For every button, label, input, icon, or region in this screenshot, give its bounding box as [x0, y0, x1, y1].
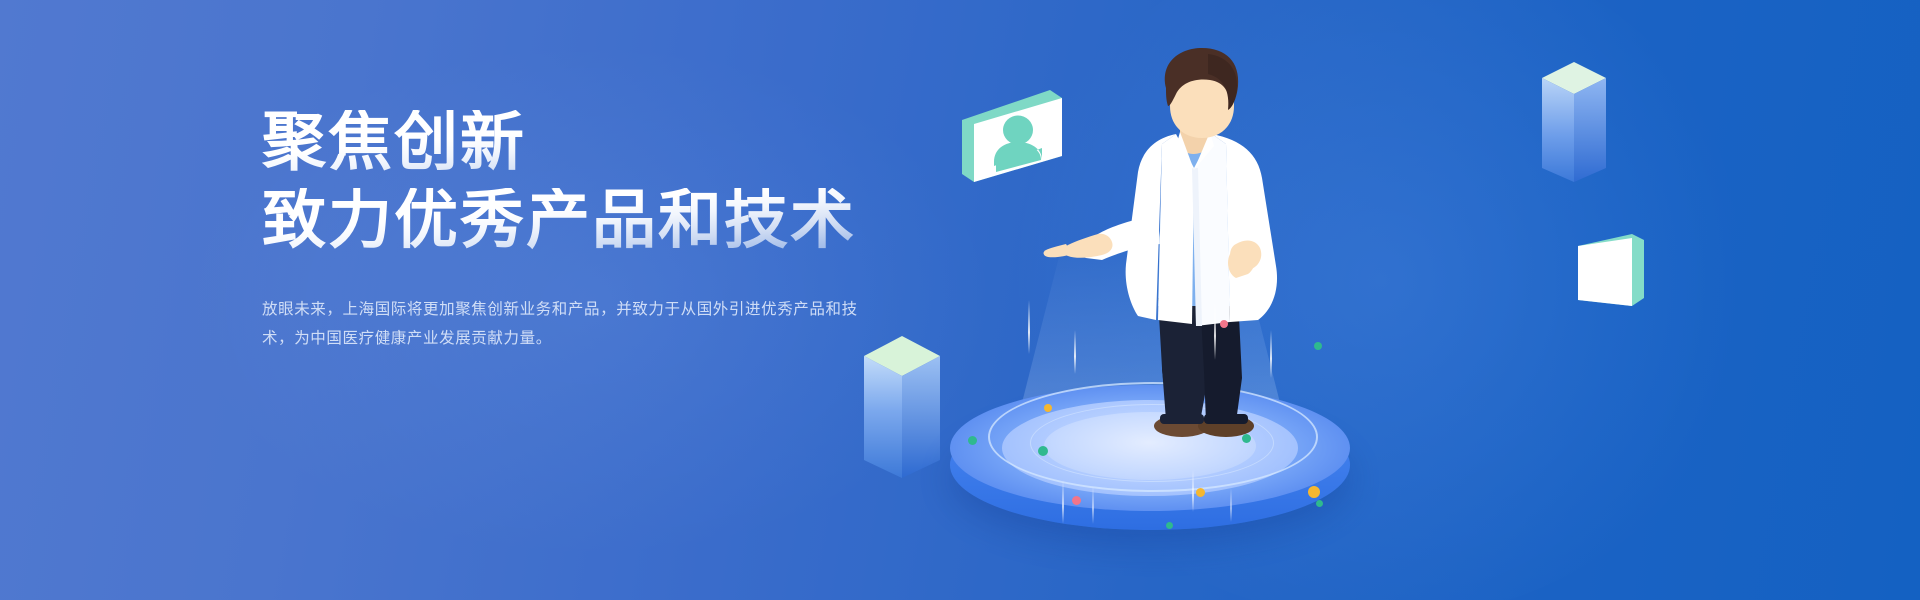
accent-dot-yellow — [1044, 404, 1052, 412]
accent-dot-teal — [1166, 522, 1173, 529]
hero-banner: 聚焦创新 致力优秀产品和技术 放眼未来，上海国际将更加聚焦创新业务和产品，并致力… — [0, 0, 1920, 600]
light-ray — [1062, 480, 1064, 524]
light-ray — [1214, 300, 1216, 360]
accent-dot-teal — [1314, 342, 1322, 350]
light-ray — [1028, 300, 1030, 354]
accent-dot-pink — [1072, 496, 1081, 505]
headline-line-2: 致力优秀产品和技术 — [262, 188, 902, 252]
pillar-right-svg — [1540, 60, 1608, 185]
light-ray — [1074, 330, 1076, 374]
accent-dot-teal — [1242, 434, 1251, 443]
floating-blank-card — [1570, 228, 1650, 318]
light-ray — [1192, 470, 1194, 512]
pillar-left-svg — [860, 332, 944, 482]
accent-dot-pink — [1220, 320, 1228, 328]
accent-dot-yellow — [1196, 488, 1205, 497]
doctor-svg — [1040, 48, 1370, 468]
light-ray — [1270, 330, 1272, 378]
doctor-illustration — [1040, 48, 1370, 468]
accent-dot-teal — [1038, 446, 1048, 456]
light-ray — [1092, 486, 1094, 524]
banner-subtext: 放眼未来，上海国际将更加聚焦创新业务和产品，并致力于从国外引进优秀产品和技术，为… — [262, 296, 862, 353]
light-ray — [1230, 488, 1232, 522]
headline-line-1: 聚焦创新 — [262, 110, 902, 174]
accent-dot-yellow — [1308, 486, 1320, 498]
accent-dot-teal — [968, 436, 977, 445]
blank-card-svg — [1570, 228, 1650, 318]
isometric-pillar-right — [1540, 60, 1608, 185]
accent-dot-teal — [1316, 500, 1323, 507]
isometric-pillar-left — [860, 332, 944, 482]
banner-text-block: 聚焦创新 致力优秀产品和技术 放眼未来，上海国际将更加聚焦创新业务和产品，并致力… — [262, 110, 902, 353]
illustration-stage — [940, 0, 1760, 600]
